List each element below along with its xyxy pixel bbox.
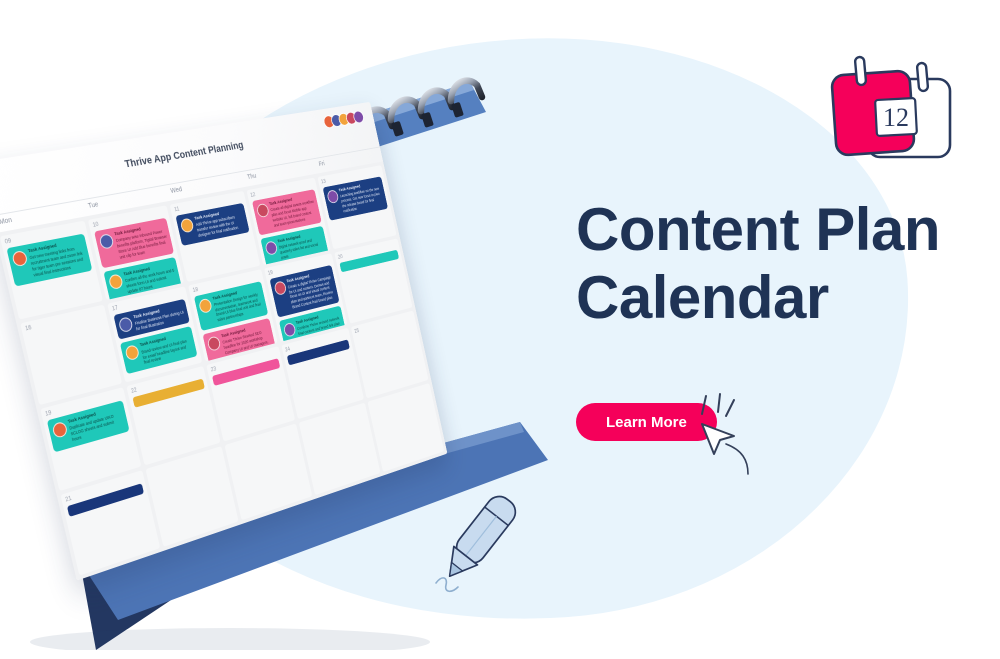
team-avatar-group[interactable] bbox=[325, 110, 365, 129]
avatar bbox=[273, 280, 287, 296]
calendar-day-cell[interactable]: 13Task AssignedLaunching workflow on the… bbox=[317, 165, 396, 249]
hero-text-block: Content Plan Calendar bbox=[576, 196, 976, 333]
calendar-day-cell[interactable]: 19Task AssignedCreate a digital Thrive C… bbox=[264, 253, 348, 342]
calendar-day-cell[interactable]: 25 bbox=[351, 311, 429, 399]
calendar-day-cell[interactable]: 11Task AssignedAdd Thrive app subscriber… bbox=[170, 191, 260, 282]
cursor-click-icon bbox=[690, 392, 770, 477]
avatar bbox=[283, 322, 297, 338]
avatar bbox=[11, 250, 28, 267]
avatar bbox=[118, 316, 134, 333]
avatar bbox=[180, 217, 195, 233]
calendar-day-cell[interactable]: 09Task AssignedGet new meeting links fro… bbox=[0, 221, 103, 319]
avatar bbox=[256, 203, 270, 218]
avatar bbox=[52, 421, 69, 439]
calendar-day-cell[interactable]: 24 bbox=[281, 328, 364, 419]
calendar-icon: 12 bbox=[820, 55, 970, 180]
avatar bbox=[207, 336, 222, 352]
calendar-title: Thrive App Content Planning bbox=[124, 140, 245, 170]
calendar-day-cell[interactable]: 16 bbox=[20, 304, 122, 405]
calendar-day-cell[interactable]: 20 bbox=[334, 238, 412, 324]
calendar-day-cell[interactable]: 18Task AssignedPresentation Design for w… bbox=[188, 269, 277, 362]
avatar bbox=[198, 297, 213, 313]
avatar bbox=[125, 344, 141, 361]
avatar bbox=[99, 233, 115, 250]
calendar-day-cell[interactable]: 12Task AssignedCreate all digital assets… bbox=[246, 178, 330, 265]
page-title: Content Plan Calendar bbox=[576, 196, 976, 333]
hero-illustration-stage: Thrive App Content Planning MonTueWedThu… bbox=[0, 0, 1000, 659]
calendar-day-cell[interactable]: 10Task AssignedCompany wise Inbound Powe… bbox=[88, 205, 184, 299]
avatar bbox=[326, 189, 339, 204]
avatar bbox=[108, 273, 124, 290]
calendar-day-cell[interactable]: 17Task AssignedFinalise Business Plan du… bbox=[107, 286, 202, 383]
calendar-icon-day: 12 bbox=[883, 103, 909, 132]
pencil-icon bbox=[418, 485, 548, 605]
avatar bbox=[264, 240, 278, 255]
